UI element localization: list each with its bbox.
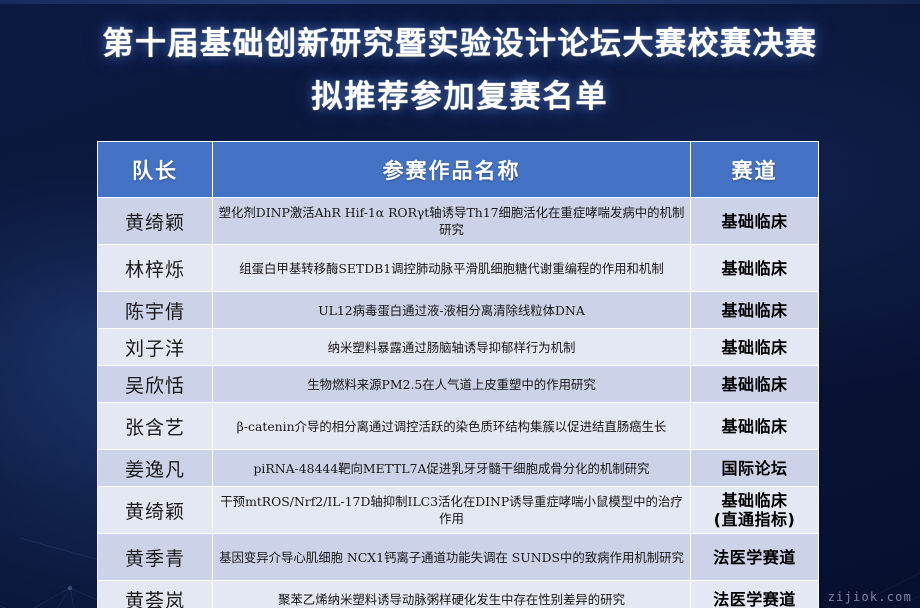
cell-leader: 黄荟岚 [98, 581, 213, 608]
table-row: 吴欣恬生物燃料来源PM2.5在人气道上皮重塑中的作用研究基础临床 [98, 366, 819, 403]
roster-table-body: 黄绮颖塑化剂DINP激活AhR Hif-1α RORγt轴诱导Th17细胞活化在… [98, 198, 819, 608]
cell-work-title: 聚苯乙烯纳米塑料诱导动脉粥样硬化发生中存在性别差异的研究 [213, 581, 691, 608]
cell-work-title: UL12病毒蛋白通过液-液相分离清除线粒体DNA [213, 292, 691, 329]
cell-leader: 黄绮颖 [98, 198, 213, 245]
cell-leader: 林梓烁 [98, 245, 213, 292]
cell-track: 基础临床 [691, 403, 819, 450]
cell-work-title: 纳米塑料暴露通过肠脑轴诱导抑郁样行为机制 [213, 329, 691, 366]
cell-leader: 黄绮颖 [98, 487, 213, 534]
cell-leader: 黄季青 [98, 534, 213, 581]
table-row: 黄绮颖塑化剂DINP激活AhR Hif-1α RORγt轴诱导Th17细胞活化在… [98, 198, 819, 245]
table-row: 陈宇倩UL12病毒蛋白通过液-液相分离清除线粒体DNA基础临床 [98, 292, 819, 329]
cell-track: 基础临床 [691, 366, 819, 403]
cell-track: 基础临床(直通指标) [691, 487, 819, 534]
table-row: 姜逸凡piRNA-48444靶向METTL7A促进乳牙牙髓干细胞成骨分化的机制研… [98, 450, 819, 487]
cell-track: 法医学赛道 [691, 581, 819, 608]
column-header-leader: 队长 [98, 142, 213, 198]
cell-leader: 姜逸凡 [98, 450, 213, 487]
roster-table-wrapper: 队长 参赛作品名称 赛道 黄绮颖塑化剂DINP激活AhR Hif-1α RORγ… [97, 141, 818, 608]
cell-track: 基础临床 [691, 198, 819, 245]
cell-leader: 吴欣恬 [98, 366, 213, 403]
roster-table-head: 队长 参赛作品名称 赛道 [98, 142, 819, 198]
cell-track: 基础临床 [691, 329, 819, 366]
table-row: 林梓烁组蛋白甲基转移酶SETDB1调控肺动脉平滑肌细胞糖代谢重编程的作用和机制基… [98, 245, 819, 292]
cell-work-title: β-catenin介导的相分离通过调控活跃的染色质环结构集簇以促进结直肠癌生长 [213, 403, 691, 450]
cell-track: 法医学赛道 [691, 534, 819, 581]
title-line-1: 第十届基础创新研究暨实验设计论坛大赛校赛决赛 [0, 18, 920, 71]
cell-leader: 陈宇倩 [98, 292, 213, 329]
column-header-work-title: 参赛作品名称 [213, 142, 691, 198]
cell-work-title: 生物燃料来源PM2.5在人气道上皮重塑中的作用研究 [213, 366, 691, 403]
top-accent-strip [0, 0, 920, 4]
table-row: 黄绮颖干预mtROS/Nrf2/IL-17D轴抑制ILC3活化在DINP诱导重症… [98, 487, 819, 534]
table-row: 黄荟岚聚苯乙烯纳米塑料诱导动脉粥样硬化发生中存在性别差异的研究法医学赛道 [98, 581, 819, 608]
cell-track: 基础临床 [691, 245, 819, 292]
roster-table: 队长 参赛作品名称 赛道 黄绮颖塑化剂DINP激活AhR Hif-1α RORγ… [97, 141, 819, 608]
cell-work-title: 组蛋白甲基转移酶SETDB1调控肺动脉平滑肌细胞糖代谢重编程的作用和机制 [213, 245, 691, 292]
slide-title-block: 第十届基础创新研究暨实验设计论坛大赛校赛决赛 拟推荐参加复赛名单 [0, 18, 920, 124]
cell-work-title: 塑化剂DINP激活AhR Hif-1α RORγt轴诱导Th17细胞活化在重症哮… [213, 198, 691, 245]
cell-leader: 刘子洋 [98, 329, 213, 366]
title-line-2: 拟推荐参加复赛名单 [0, 71, 920, 124]
column-header-track: 赛道 [691, 142, 819, 198]
table-row: 张含艺β-catenin介导的相分离通过调控活跃的染色质环结构集簇以促进结直肠癌… [98, 403, 819, 450]
cell-track: 基础临床 [691, 292, 819, 329]
cell-work-title: piRNA-48444靶向METTL7A促进乳牙牙髓干细胞成骨分化的机制研究 [213, 450, 691, 487]
cell-work-title: 基因变异介导心肌细胞 NCX1钙离子通道功能失调在 SUNDS中的致病作用机制研… [213, 534, 691, 581]
cell-leader: 张含艺 [98, 403, 213, 450]
table-row: 刘子洋纳米塑料暴露通过肠脑轴诱导抑郁样行为机制基础临床 [98, 329, 819, 366]
table-row: 黄季青基因变异介导心肌细胞 NCX1钙离子通道功能失调在 SUNDS中的致病作用… [98, 534, 819, 581]
watermark: zijiok.com [828, 590, 912, 604]
cell-track: 国际论坛 [691, 450, 819, 487]
cell-work-title: 干预mtROS/Nrf2/IL-17D轴抑制ILC3活化在DINP诱导重症哮喘小… [213, 487, 691, 534]
table-header-row: 队长 参赛作品名称 赛道 [98, 142, 819, 198]
slide-canvas: 第十届基础创新研究暨实验设计论坛大赛校赛决赛 拟推荐参加复赛名单 队长 参赛作品… [0, 0, 920, 608]
